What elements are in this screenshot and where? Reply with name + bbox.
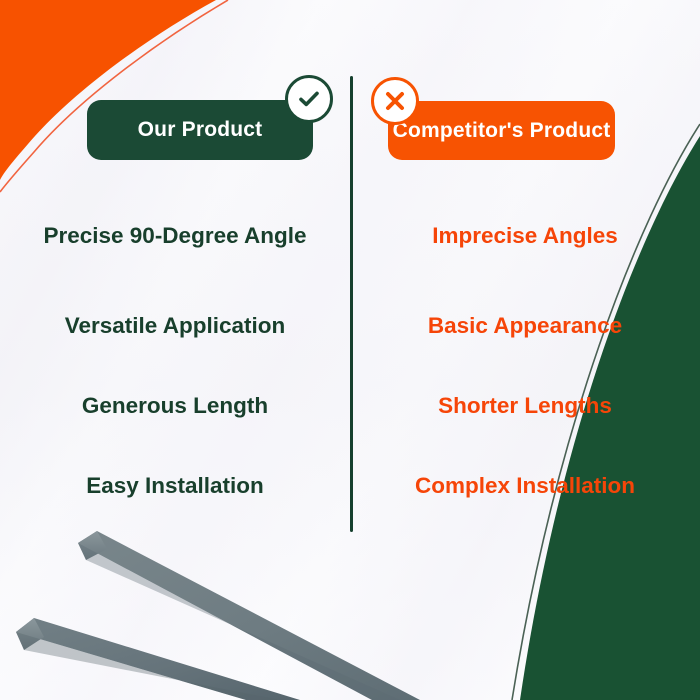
feature-row: Generous Length Shorter Lengths: [0, 366, 700, 446]
cross-circle-icon: [371, 77, 419, 125]
orange-wave-outline: [0, 0, 228, 192]
feature-comparison-list: Precise 90-Degree Angle Imprecise Angles…: [0, 186, 700, 526]
gray-angle-strip-lower: [16, 618, 300, 700]
our-product-header-pill[interactable]: Our Product: [87, 100, 313, 160]
feature-row: Precise 90-Degree Angle Imprecise Angles: [0, 186, 700, 286]
feature-theirs-label: Imprecise Angles: [350, 220, 700, 251]
feature-theirs-label: Complex Installation: [350, 470, 700, 501]
feature-row: Easy Installation Complex Installation: [0, 446, 700, 526]
feature-ours-label: Easy Installation: [0, 470, 350, 501]
gray-angle-strip-upper: [78, 531, 420, 700]
competitor-product-header-pill[interactable]: Competitor's Product: [388, 101, 615, 160]
feature-theirs-label: Basic Appearance: [350, 310, 700, 341]
feature-theirs-label: Shorter Lengths: [350, 390, 700, 421]
feature-ours-label: Generous Length: [0, 390, 350, 421]
feature-row: Versatile Application Basic Appearance: [0, 286, 700, 366]
competitor-product-heading-label: Competitor's Product: [393, 119, 611, 143]
cross-mark-icon: [383, 89, 407, 113]
check-mark-icon: [296, 86, 322, 112]
feature-ours-label: Precise 90-Degree Angle: [0, 220, 350, 251]
feature-ours-label: Versatile Application: [0, 310, 350, 341]
check-circle-icon: [285, 75, 333, 123]
comparison-canvas: Our Product Competitor's Product Precise…: [0, 0, 700, 700]
our-product-heading-label: Our Product: [138, 118, 263, 142]
